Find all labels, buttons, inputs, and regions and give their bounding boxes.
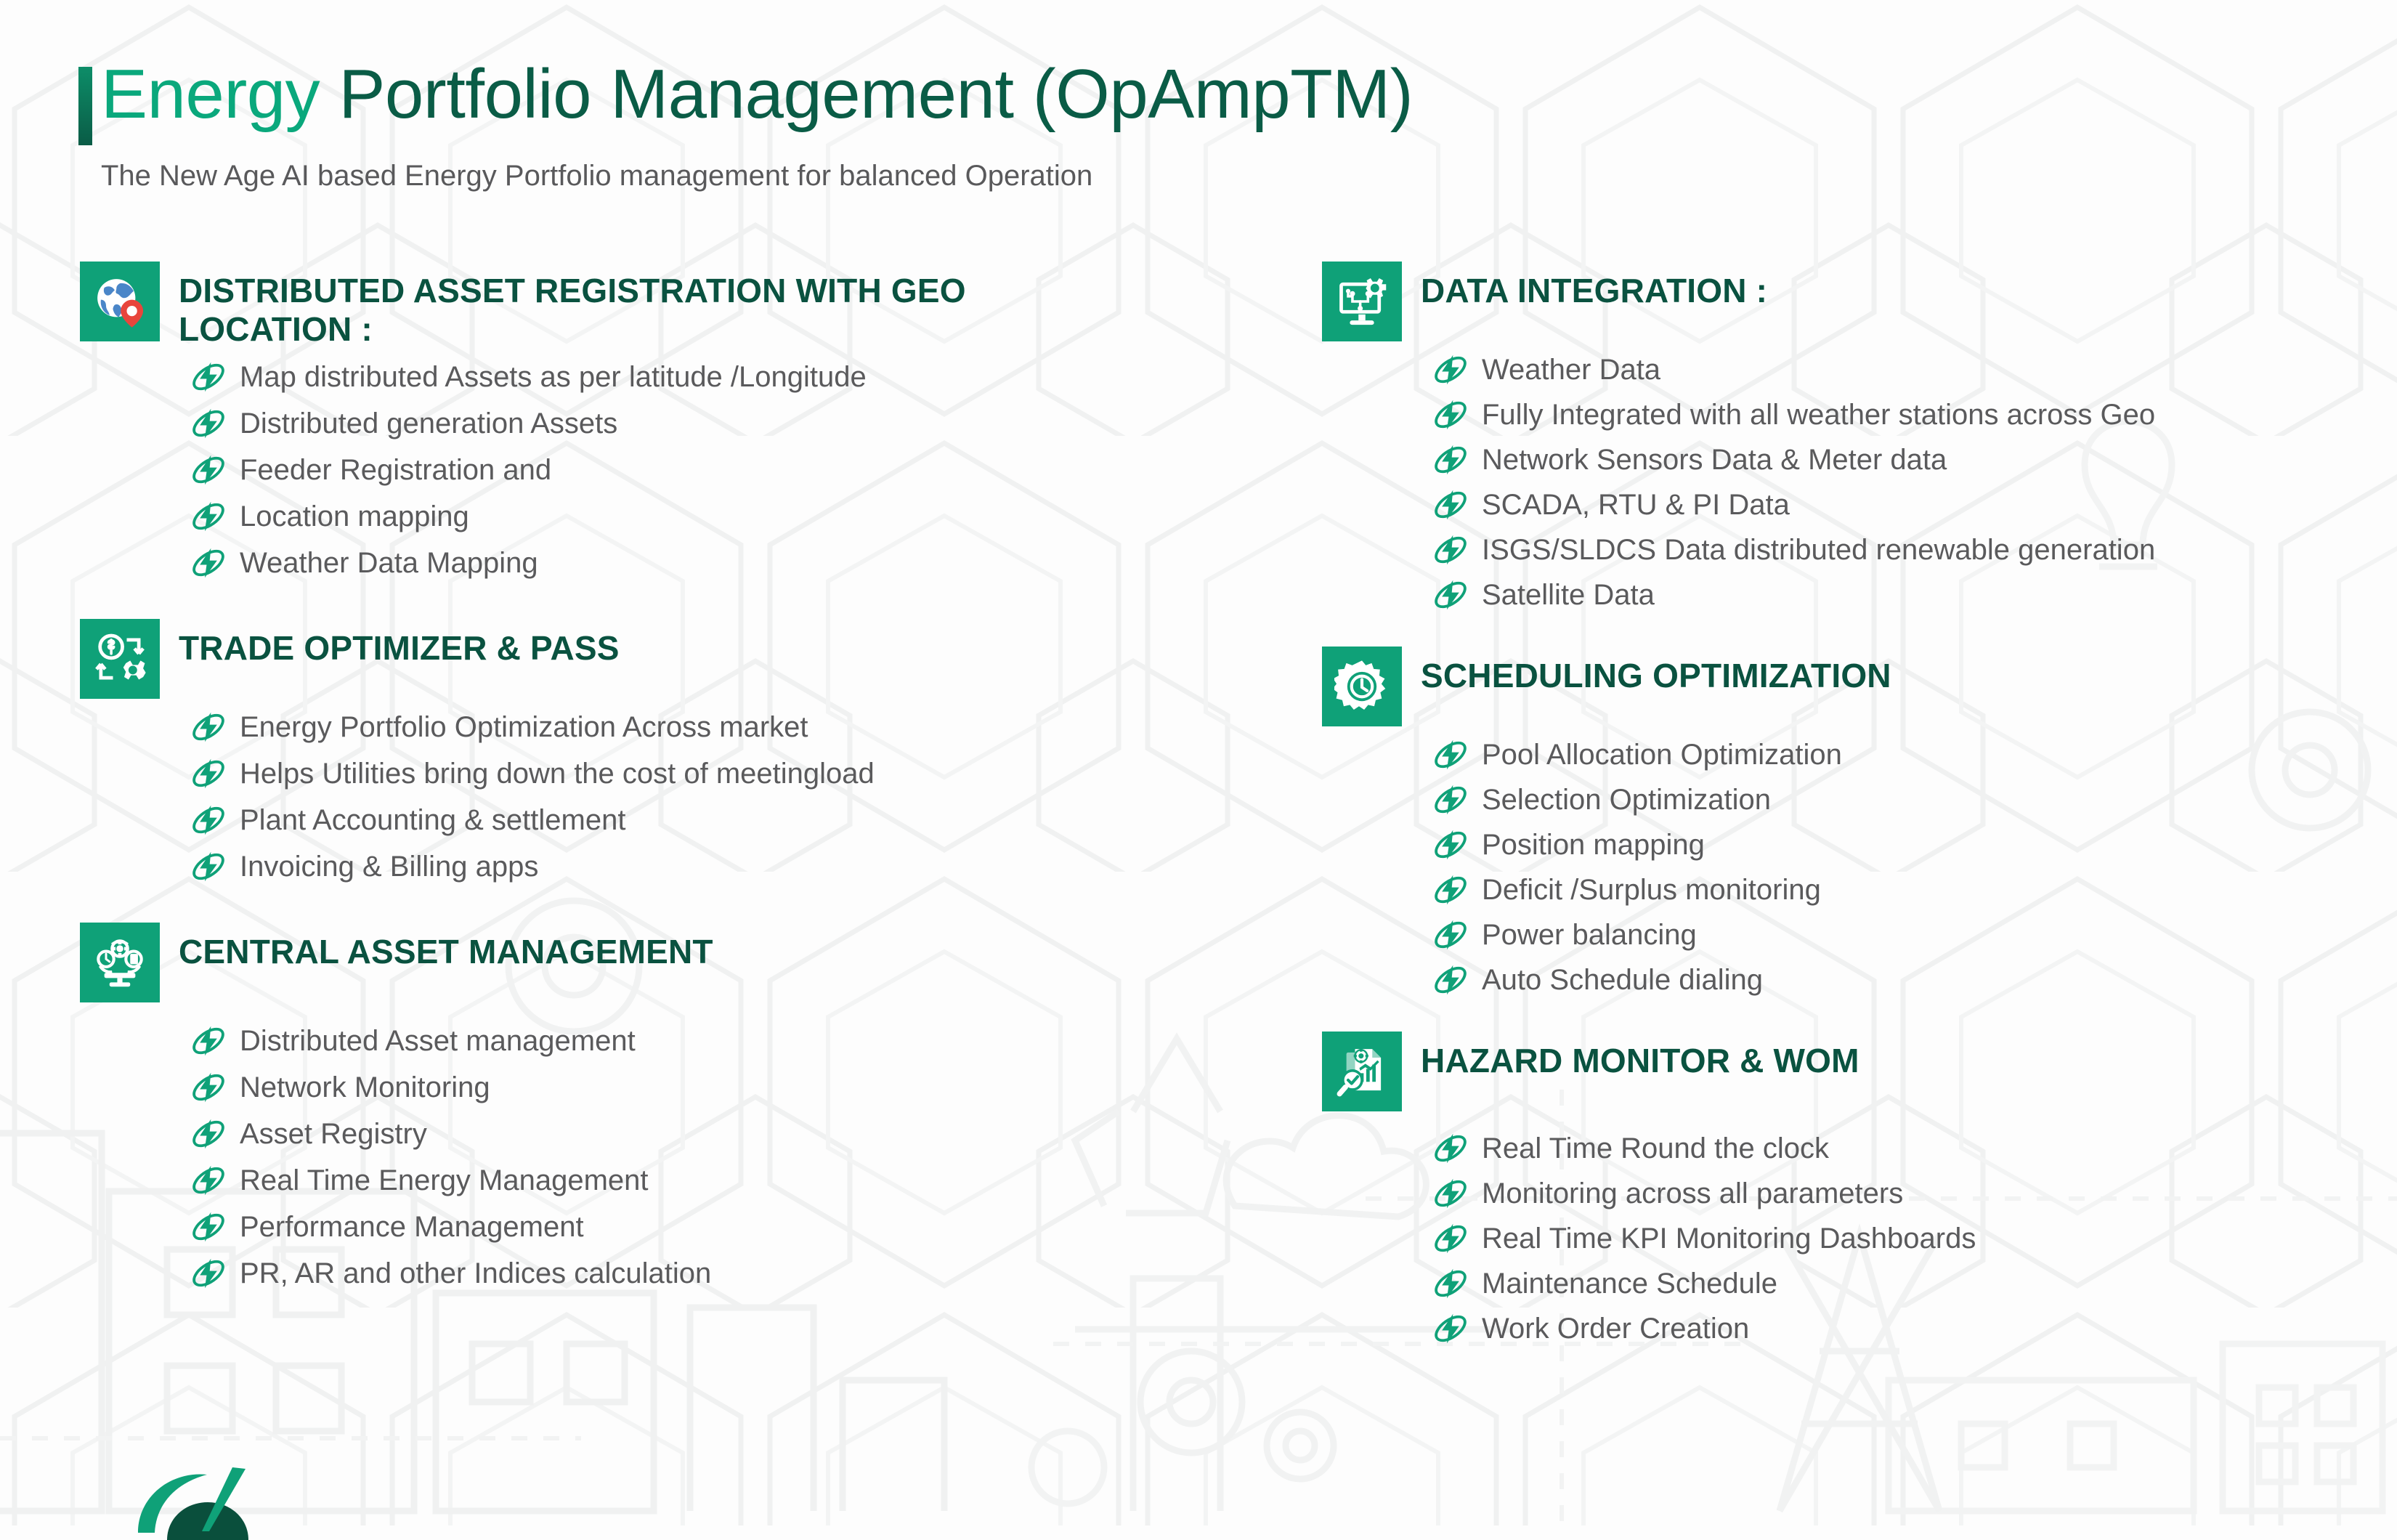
section-data-integration: DATA INTEGRATION : Weather Data Fully In… — [1322, 262, 2375, 615]
list-item-label: Invoicing & Billing apps — [240, 847, 538, 886]
list-item-label: Real Time Round the clock — [1482, 1129, 1829, 1168]
list-item: Network Sensors Data & Meter data — [1431, 440, 2375, 479]
list-item-label: Real Time KPI Monitoring Dashboards — [1482, 1219, 1976, 1258]
list-item-label: Weather Data — [1482, 350, 1660, 389]
list-item-label: Plant Accounting & settlement — [240, 801, 625, 840]
lightning-bolt-orbit-icon — [189, 1068, 228, 1107]
list-item: Network Monitoring — [189, 1068, 1242, 1107]
list-item-label: Position mapping — [1482, 825, 1705, 864]
lightning-bolt-orbit-icon — [189, 543, 228, 583]
list-item-label: Location mapping — [240, 497, 469, 536]
title-accent-word: Energy — [101, 55, 320, 133]
section-title: CENTRAL ASSET MANAGEMENT — [179, 923, 713, 971]
lightning-bolt-orbit-icon — [189, 497, 228, 536]
list-item-label: Work Order Creation — [1482, 1309, 1749, 1348]
list-item: Distributed generation Assets — [189, 404, 1242, 443]
list-item: ISGS/SLDCS Data distributed renewable ge… — [1431, 530, 2375, 570]
section-title: TRADE OPTIMIZER & PASS — [179, 619, 620, 668]
list-item: Performance Management — [189, 1207, 1242, 1247]
monitor-gears-clock-icon — [80, 923, 160, 1002]
section-title: HAZARD MONITOR & WOM — [1421, 1032, 1859, 1080]
title-rest: Portfolio Management (OpAmpTM) — [320, 55, 1413, 133]
section-scheduling-optimization: SCHEDULING OPTIMIZATION Pool Allocation … — [1322, 647, 2375, 1000]
list-item: Deficit /Surplus monitoring — [1431, 870, 2375, 909]
lightning-bolt-orbit-icon — [1431, 1129, 1470, 1168]
list-item: Asset Registry — [189, 1114, 1242, 1154]
list-item: Location mapping — [189, 497, 1242, 536]
section-header: DISTRIBUTED ASSET REGISTRATION WITH GEO … — [80, 262, 1242, 349]
list-item: Satellite Data — [1431, 575, 2375, 615]
list-item-label: ISGS/SLDCS Data distributed renewable ge… — [1482, 530, 2155, 570]
section-hazard-monitor: HAZARD MONITOR & WOM Real Time Round the… — [1322, 1032, 2375, 1348]
list-item-label: Energy Portfolio Optimization Across mar… — [240, 708, 808, 747]
list-item: Plant Accounting & settlement — [189, 801, 1242, 840]
list-item: Real Time KPI Monitoring Dashboards — [1431, 1219, 2375, 1258]
list-item: Real Time Energy Management — [189, 1161, 1242, 1200]
lightning-bolt-orbit-icon — [1431, 780, 1470, 819]
left-column: DISTRIBUTED ASSET REGISTRATION WITH GEO … — [80, 262, 1242, 1303]
lightning-bolt-orbit-icon — [1431, 870, 1470, 909]
list-item: Energy Portfolio Optimization Across mar… — [189, 708, 1242, 747]
bullet-list: Map distributed Assets as per latitude /… — [189, 357, 1242, 583]
list-item: Power balancing — [1431, 915, 2375, 955]
list-item-label: Power balancing — [1482, 915, 1697, 955]
list-item: SCADA, RTU & PI Data — [1431, 485, 2375, 524]
list-item-label: Performance Management — [240, 1207, 584, 1247]
list-item-label: Selection Optimization — [1482, 780, 1771, 819]
list-item-label: Monitoring across all parameters — [1482, 1174, 1903, 1213]
list-item-label: Distributed generation Assets — [240, 404, 617, 443]
list-item: Monitoring across all parameters — [1431, 1174, 2375, 1213]
list-item-label: PR, AR and other Indices calculation — [240, 1254, 711, 1293]
list-item: PR, AR and other Indices calculation — [189, 1254, 1242, 1293]
lightning-bolt-orbit-icon — [189, 404, 228, 443]
section-header: DATA INTEGRATION : — [1322, 262, 2375, 341]
list-item-label: Helps Utilities bring down the cost of m… — [240, 754, 875, 793]
list-item-label: SCADA, RTU & PI Data — [1482, 485, 1790, 524]
brand-logo-partial — [123, 1446, 298, 1540]
list-item: Weather Data — [1431, 350, 2375, 389]
list-item: Feeder Registration and — [189, 450, 1242, 490]
list-item: Auto Schedule dialing — [1431, 960, 2375, 1000]
bullet-list: Real Time Round the clock Monitoring acr… — [1431, 1129, 2375, 1348]
list-item: Selection Optimization — [1431, 780, 2375, 819]
lightning-bolt-orbit-icon — [1431, 395, 1470, 434]
lightning-bolt-orbit-icon — [1431, 485, 1470, 524]
lightning-bolt-orbit-icon — [189, 1254, 228, 1293]
lightning-bolt-orbit-icon — [189, 450, 228, 490]
section-header: SCHEDULING OPTIMIZATION — [1322, 647, 2375, 726]
list-item: Fully Integrated with all weather statio… — [1431, 395, 2375, 434]
globe-location-pin-icon — [80, 262, 160, 341]
lightning-bolt-orbit-icon — [189, 754, 228, 793]
lightning-bolt-orbit-icon — [189, 1114, 228, 1154]
list-item: Work Order Creation — [1431, 1309, 2375, 1348]
list-item: Helps Utilities bring down the cost of m… — [189, 754, 1242, 793]
list-item-label: Network Sensors Data & Meter data — [1482, 440, 1947, 479]
lightning-bolt-orbit-icon — [189, 1207, 228, 1247]
page-header: Energy Portfolio Management (OpAmpTM) Th… — [78, 57, 1413, 192]
lightning-bolt-orbit-icon — [1431, 440, 1470, 479]
list-item: Map distributed Assets as per latitude /… — [189, 357, 1242, 397]
dollar-gear-exchange-icon — [80, 619, 160, 699]
section-distributed-asset-registration: DISTRIBUTED ASSET REGISTRATION WITH GEO … — [80, 262, 1242, 583]
lightning-bolt-orbit-icon — [1431, 350, 1470, 389]
title-row: Energy Portfolio Management (OpAmpTM) — [78, 57, 1413, 145]
lightning-bolt-orbit-icon — [1431, 1309, 1470, 1348]
lightning-bolt-orbit-icon — [189, 1021, 228, 1061]
document-chart-magnifier-check-icon — [1322, 1032, 1402, 1111]
lightning-bolt-orbit-icon — [1431, 1219, 1470, 1258]
list-item-label: Distributed Asset management — [240, 1021, 636, 1061]
list-item: Pool Allocation Optimization — [1431, 735, 2375, 774]
lightning-bolt-orbit-icon — [189, 708, 228, 747]
list-item-label: Deficit /Surplus monitoring — [1482, 870, 1821, 909]
lightning-bolt-orbit-icon — [1431, 825, 1470, 864]
page-title: Energy Portfolio Management (OpAmpTM) — [101, 57, 1413, 132]
page-subtitle: The New Age AI based Energy Portfolio ma… — [101, 160, 1413, 192]
lightning-bolt-orbit-icon — [1431, 575, 1470, 615]
infographic-page: Energy Portfolio Management (OpAmpTM) Th… — [0, 0, 2397, 1525]
bullet-list: Pool Allocation Optimization Selection O… — [1431, 735, 2375, 1000]
lightning-bolt-orbit-icon — [1431, 530, 1470, 570]
section-header: CENTRAL ASSET MANAGEMENT — [80, 923, 1242, 1002]
section-central-asset-management: CENTRAL ASSET MANAGEMENT Distributed Ass… — [80, 923, 1242, 1293]
list-item-label: Network Monitoring — [240, 1068, 490, 1107]
right-column: DATA INTEGRATION : Weather Data Fully In… — [1322, 262, 2375, 1358]
lightning-bolt-orbit-icon — [1431, 915, 1470, 955]
bullet-list: Distributed Asset management Network Mon… — [189, 1021, 1242, 1293]
list-item: Maintenance Schedule — [1431, 1264, 2375, 1303]
section-title: DATA INTEGRATION : — [1421, 262, 1767, 310]
lightning-bolt-orbit-icon — [1431, 735, 1470, 774]
gear-clock-icon — [1322, 647, 1402, 726]
bullet-list: Weather Data Fully Integrated with all w… — [1431, 350, 2375, 615]
bullet-list: Energy Portfolio Optimization Across mar… — [189, 708, 1242, 886]
list-item-label: Auto Schedule dialing — [1482, 960, 1763, 1000]
list-item-label: Feeder Registration and — [240, 450, 551, 490]
list-item: Weather Data Mapping — [189, 543, 1242, 583]
section-trade-optimizer: TRADE OPTIMIZER & PASS Energy Portfolio … — [80, 619, 1242, 886]
lightning-bolt-orbit-icon — [189, 847, 228, 886]
lightning-bolt-orbit-icon — [189, 801, 228, 840]
lightning-bolt-orbit-icon — [1431, 1264, 1470, 1303]
section-header: HAZARD MONITOR & WOM — [1322, 1032, 2375, 1111]
list-item: Position mapping — [1431, 825, 2375, 864]
lightning-bolt-orbit-icon — [1431, 1174, 1470, 1213]
list-item-label: Pool Allocation Optimization — [1482, 735, 1842, 774]
list-item-label: Fully Integrated with all weather statio… — [1482, 395, 2155, 434]
section-title: DISTRIBUTED ASSET REGISTRATION WITH GEO … — [179, 262, 1123, 349]
list-item-label: Maintenance Schedule — [1482, 1264, 1777, 1303]
section-title: SCHEDULING OPTIMIZATION — [1421, 647, 1891, 695]
list-item-label: Map distributed Assets as per latitude /… — [240, 357, 867, 397]
list-item: Invoicing & Billing apps — [189, 847, 1242, 886]
lightning-bolt-orbit-icon — [1431, 960, 1470, 1000]
list-item: Real Time Round the clock — [1431, 1129, 2375, 1168]
lightning-bolt-orbit-icon — [189, 357, 228, 397]
title-accent-bar — [78, 67, 92, 145]
list-item-label: Satellite Data — [1482, 575, 1655, 615]
list-item-label: Asset Registry — [240, 1114, 427, 1154]
list-item-label: Weather Data Mapping — [240, 543, 538, 583]
monitor-gear-circuit-icon — [1322, 262, 1402, 341]
section-header: TRADE OPTIMIZER & PASS — [80, 619, 1242, 699]
list-item: Distributed Asset management — [189, 1021, 1242, 1061]
lightning-bolt-orbit-icon — [189, 1161, 228, 1200]
list-item-label: Real Time Energy Management — [240, 1161, 649, 1200]
